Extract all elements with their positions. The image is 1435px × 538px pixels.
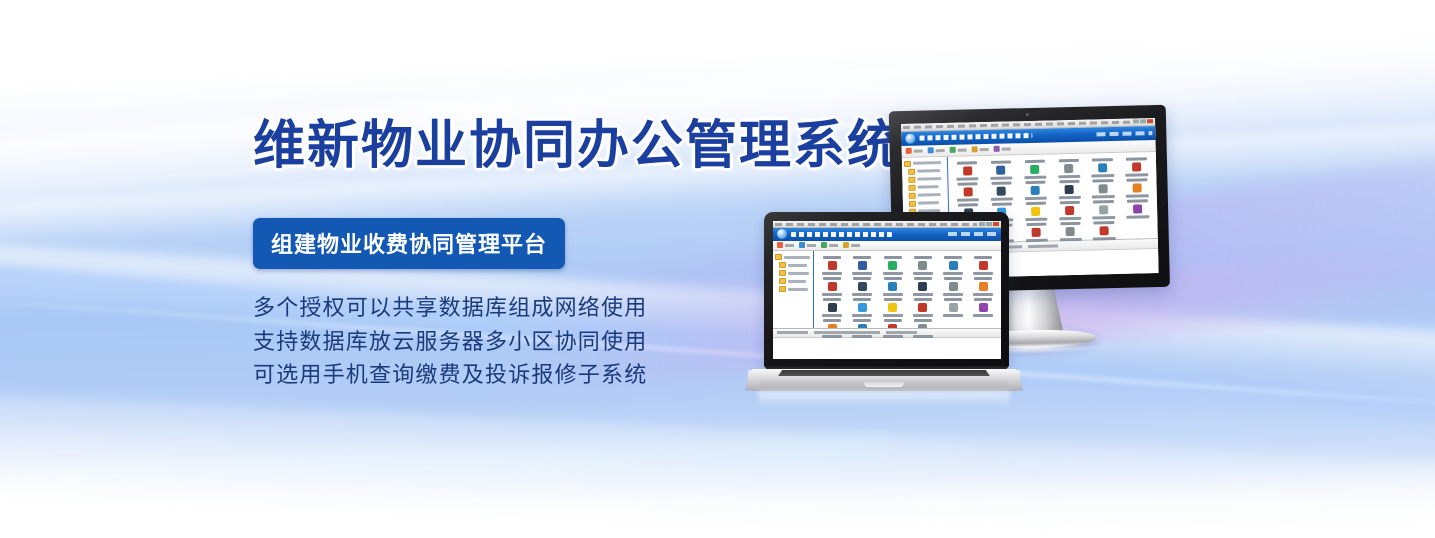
laptop-screen <box>773 221 1001 359</box>
module-icon-cell[interactable] <box>908 277 937 296</box>
tree-item[interactable] <box>904 160 945 167</box>
tree-item[interactable] <box>904 184 945 191</box>
module-icon <box>997 186 1006 195</box>
module-caption-top <box>1092 158 1112 161</box>
app-toolbar[interactable] <box>773 241 1001 252</box>
app-logo-icon <box>777 229 787 239</box>
module-caption-top <box>914 319 932 322</box>
module-icon-cell[interactable] <box>878 298 907 317</box>
module-icon-cell[interactable] <box>1019 201 1052 221</box>
module-icon-cell[interactable] <box>1086 158 1119 178</box>
module-icon <box>1100 226 1109 235</box>
module-icon <box>963 166 972 175</box>
module-icon <box>1030 165 1039 174</box>
module-caption <box>1024 175 1046 179</box>
module-icon <box>1031 207 1040 216</box>
module-caption <box>852 335 872 338</box>
module-caption-top <box>944 256 962 259</box>
app-logo-icon <box>905 134 915 144</box>
toolbar-button[interactable] <box>906 148 923 154</box>
module-icon-cell[interactable] <box>951 161 984 181</box>
module-icon <box>888 261 897 270</box>
module-icon-cell[interactable] <box>1088 221 1121 241</box>
module-caption <box>1093 237 1115 241</box>
module-icon-cell[interactable] <box>1087 200 1120 220</box>
module-icon <box>1099 184 1108 193</box>
module-icon-cell[interactable] <box>848 298 877 317</box>
module-icon-cell[interactable] <box>1120 178 1153 198</box>
module-icon-cell[interactable] <box>984 160 1017 180</box>
laptop-trackpad <box>864 382 904 387</box>
module-icon <box>918 303 927 312</box>
module-icon-cell[interactable] <box>938 256 967 275</box>
module-icon-cell[interactable] <box>1053 179 1086 199</box>
promo-banner: 维新物业协同办公管理系统 组建物业收费协同管理平台 多个授权可以共享数据库组成网… <box>0 0 1435 538</box>
menubar-items <box>775 223 977 226</box>
module-icon <box>1032 228 1041 237</box>
tree-item[interactable] <box>904 176 945 183</box>
module-caption <box>973 293 993 296</box>
module-caption <box>973 272 993 275</box>
tree-item[interactable] <box>905 192 946 199</box>
module-caption <box>822 314 842 317</box>
module-icon-cell[interactable] <box>1018 159 1051 179</box>
module-icon-grid[interactable] <box>814 251 1001 327</box>
module-caption-top <box>1127 199 1147 202</box>
module-caption-top <box>1026 201 1046 204</box>
module-icon-cell[interactable] <box>908 298 937 317</box>
module-caption <box>913 293 933 296</box>
module-icon <box>918 282 927 291</box>
toolbar-button[interactable] <box>928 147 945 153</box>
toolbar-button[interactable] <box>843 242 860 248</box>
module-icon-cell[interactable] <box>985 181 1018 201</box>
module-caption <box>990 176 1012 180</box>
tree-item[interactable] <box>775 286 811 292</box>
module-caption-top <box>944 277 962 280</box>
tree-item[interactable] <box>904 168 945 175</box>
app-menubar <box>773 221 1001 228</box>
navigation-tree[interactable] <box>773 251 814 327</box>
module-icon <box>858 303 867 312</box>
module-caption <box>1126 173 1148 177</box>
webcam-icon <box>1026 113 1029 116</box>
module-icon-cell[interactable] <box>878 277 907 296</box>
app-titlebar-text <box>919 133 1032 141</box>
laptop-foot-left <box>748 370 760 388</box>
module-icon <box>828 282 837 291</box>
module-caption-top <box>1060 222 1080 225</box>
module-caption-top <box>914 256 932 259</box>
page-title: 维新物业协同办公管理系统 <box>253 118 893 174</box>
module-caption <box>1092 195 1114 199</box>
module-icon <box>858 282 867 291</box>
module-caption-top <box>853 298 871 301</box>
module-icon <box>1099 205 1108 214</box>
module-caption-top <box>823 319 841 322</box>
laptop-foot-right <box>1008 370 1020 388</box>
module-caption-top <box>974 256 992 259</box>
module-icon-cell[interactable] <box>817 256 846 275</box>
module-caption <box>1059 238 1081 242</box>
module-caption <box>822 335 842 338</box>
module-caption <box>913 335 933 338</box>
module-caption-top <box>1093 179 1113 182</box>
module-icon <box>979 261 988 270</box>
module-caption-top <box>884 319 902 322</box>
module-caption-top <box>914 277 932 280</box>
module-caption-top <box>992 202 1012 205</box>
module-caption <box>943 314 963 317</box>
module-icon-cell[interactable] <box>1053 200 1086 220</box>
module-icon <box>1064 164 1073 173</box>
window-controls[interactable] <box>979 222 999 226</box>
module-caption <box>1024 196 1046 200</box>
module-icon <box>1066 227 1075 236</box>
module-caption-top <box>1025 180 1045 183</box>
module-caption-top <box>853 319 871 322</box>
toolbar-button[interactable] <box>777 242 794 248</box>
module-icon <box>888 282 897 291</box>
app-footer-panel <box>773 328 1001 359</box>
module-icon-cell[interactable] <box>1087 179 1120 199</box>
module-icon <box>888 303 897 312</box>
module-caption <box>913 272 933 275</box>
module-caption <box>1059 217 1081 221</box>
toolbar-button[interactable] <box>950 147 967 153</box>
module-caption-top <box>1093 200 1113 203</box>
module-icon-cell[interactable] <box>1052 158 1085 178</box>
module-caption <box>883 335 903 338</box>
module-caption-top <box>1026 222 1046 225</box>
module-icon <box>949 261 958 270</box>
module-icon-cell[interactable] <box>969 277 998 296</box>
module-icon-cell[interactable] <box>938 298 967 317</box>
app-titlebar-links[interactable] <box>948 232 998 236</box>
module-caption <box>1025 238 1047 242</box>
module-caption <box>1058 196 1080 200</box>
module-icon <box>1031 186 1040 195</box>
tree-item[interactable] <box>775 254 811 260</box>
footer-list[interactable] <box>773 338 1001 359</box>
module-icon <box>1065 206 1074 215</box>
module-caption <box>1126 194 1148 198</box>
module-caption-top <box>1058 159 1078 162</box>
window-controls[interactable] <box>1133 120 1153 124</box>
module-caption <box>991 197 1013 201</box>
module-icon-cell[interactable] <box>1020 222 1053 242</box>
laptop-reflection <box>758 391 1010 407</box>
module-caption <box>1058 175 1080 179</box>
module-caption-top <box>823 277 841 280</box>
module-icon <box>949 303 958 312</box>
module-icon <box>979 303 988 312</box>
module-icon <box>997 165 1006 174</box>
toolbar-button[interactable] <box>994 146 1011 152</box>
module-caption-top <box>991 160 1011 163</box>
module-icon <box>828 303 837 312</box>
module-caption <box>883 272 903 275</box>
toolbar-button[interactable] <box>972 146 989 152</box>
module-icon-cell[interactable] <box>848 256 877 275</box>
module-caption <box>943 293 963 296</box>
module-caption <box>1093 216 1115 220</box>
toolbar-button[interactable] <box>821 242 838 248</box>
module-caption-top <box>884 277 902 280</box>
module-caption-top <box>1127 178 1147 181</box>
module-caption <box>852 272 872 275</box>
module-icon-cell[interactable] <box>878 256 907 275</box>
module-caption-top <box>1025 159 1045 162</box>
module-caption-top <box>974 277 992 280</box>
module-icon-cell[interactable] <box>817 298 846 317</box>
toolbar-button[interactable] <box>799 242 816 248</box>
module-caption-top <box>853 277 871 280</box>
module-caption <box>957 198 979 202</box>
module-caption <box>822 272 842 275</box>
module-icon-cell[interactable] <box>908 256 937 275</box>
module-caption-top <box>823 298 841 301</box>
module-icon-cell[interactable] <box>1054 221 1087 241</box>
module-caption <box>973 314 993 317</box>
module-icon <box>1133 183 1142 192</box>
module-caption <box>1025 217 1047 221</box>
module-icon <box>918 261 927 270</box>
module-icon <box>949 282 958 291</box>
module-icon <box>979 282 988 291</box>
module-caption <box>1127 215 1149 219</box>
module-caption-top <box>1126 157 1146 160</box>
module-icon-cell[interactable] <box>1019 180 1052 200</box>
app-titlebar <box>773 228 1001 240</box>
module-caption-top <box>1059 180 1079 183</box>
tree-item[interactable] <box>775 262 811 268</box>
laptop-keyboard <box>778 370 990 376</box>
module-icon <box>1065 185 1074 194</box>
module-caption <box>852 314 872 317</box>
app-titlebar-text <box>791 232 892 237</box>
module-caption-top <box>914 298 932 301</box>
module-icon-cell[interactable] <box>938 277 967 296</box>
module-icon <box>1133 204 1142 213</box>
module-caption-top <box>958 203 978 206</box>
app-window-laptop <box>773 221 1001 359</box>
module-caption-top <box>991 181 1011 184</box>
module-caption <box>852 293 872 296</box>
module-icon <box>828 261 837 270</box>
module-caption <box>883 293 903 296</box>
module-caption <box>913 314 933 317</box>
module-icon-cell[interactable] <box>969 298 998 317</box>
module-icon-cell[interactable] <box>817 277 846 296</box>
module-caption-top <box>884 256 902 259</box>
laptop-device <box>744 212 1024 397</box>
tree-item[interactable] <box>905 200 946 207</box>
module-caption <box>1092 174 1114 178</box>
module-caption-top <box>974 298 992 301</box>
module-caption-top <box>957 161 977 164</box>
module-caption <box>943 272 963 275</box>
tagline-badge: 组建物业收费协同管理平台 <box>253 218 565 269</box>
module-icon-cell[interactable] <box>951 182 984 202</box>
module-caption-top <box>1094 221 1114 224</box>
module-caption-top <box>1059 201 1079 204</box>
module-caption <box>956 177 978 181</box>
module-icon-cell[interactable] <box>848 277 877 296</box>
module-caption-top <box>823 256 841 259</box>
laptop-lid <box>764 212 1009 368</box>
module-caption-top <box>884 298 902 301</box>
module-icon-cell[interactable] <box>969 256 998 275</box>
module-icon <box>1098 163 1107 172</box>
module-caption <box>883 314 903 317</box>
app-body <box>773 251 1001 327</box>
module-caption-top <box>944 298 962 301</box>
app-titlebar-links[interactable] <box>1096 131 1152 136</box>
module-caption-top <box>853 256 871 259</box>
module-icon <box>858 261 867 270</box>
module-icon-cell[interactable] <box>1121 199 1154 219</box>
module-icon <box>963 187 972 196</box>
module-caption-top <box>957 182 977 185</box>
module-icon <box>1132 162 1141 171</box>
module-icon-cell[interactable] <box>1120 157 1153 177</box>
tree-item[interactable] <box>775 278 811 284</box>
module-caption <box>822 293 842 296</box>
tree-item[interactable] <box>775 270 811 276</box>
